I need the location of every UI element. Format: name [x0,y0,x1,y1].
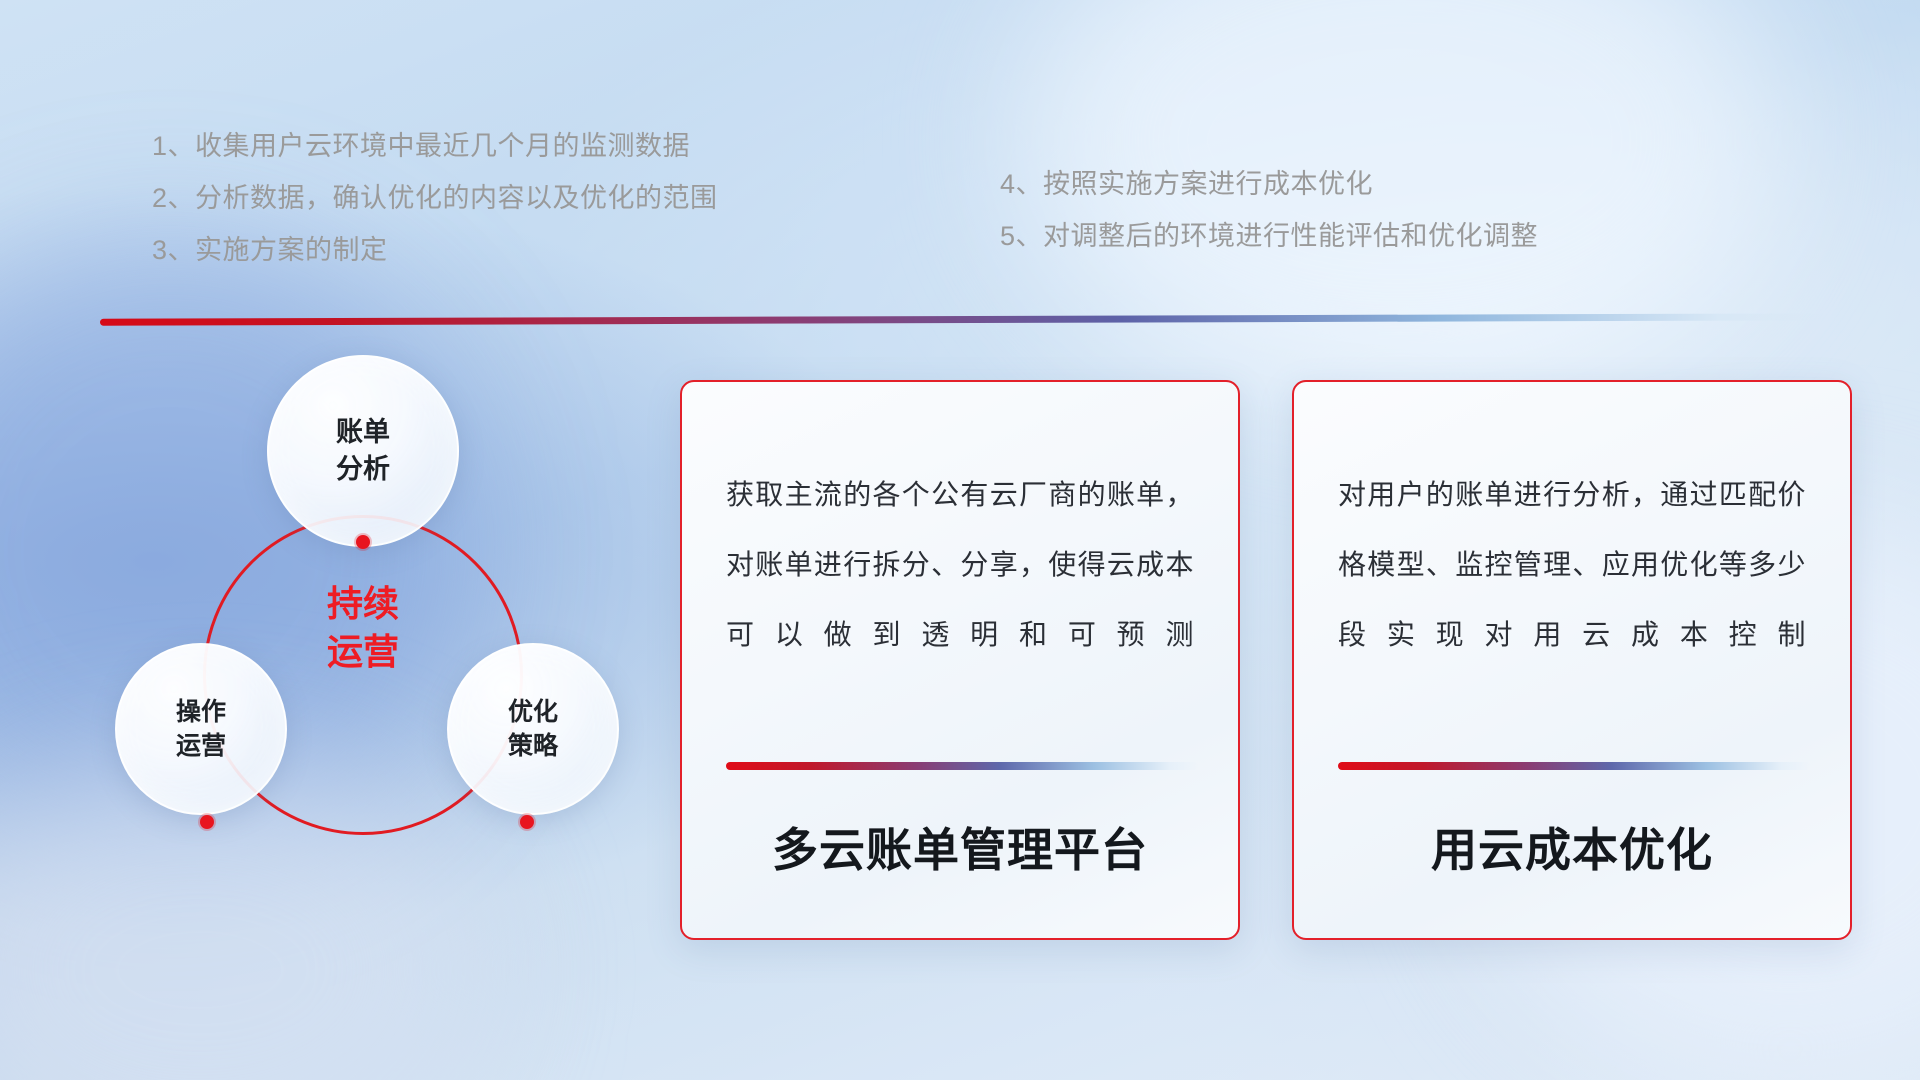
card-cloud-cost-optimization[interactable]: 对用户的账单进行分析，通过匹配价格模型、监控管理、应用优化等多少段实现对用云成本… [1292,380,1852,940]
card-multi-cloud-billing-platform[interactable]: 获取主流的各个公有云厂商的账单，对账单进行拆分、分享，使得云成本可以做到透明和可… [680,380,1240,940]
venn-node-bottom-right-dot [520,815,534,829]
venn-bubble-operations[interactable]: 操作运营 [115,643,287,815]
step-item-2: 2、分析数据，确认优化的内容以及优化的范围 [152,172,718,224]
venn-bubble-label-0: 账单分析 [336,414,390,488]
steps-right-column: 4、按照实施方案进行成本优化 5、对调整后的环境进行性能评估和优化调整 [1000,158,1538,262]
card-title-1: 用云成本优化 [1294,814,1850,880]
venn-node-bottom-left-dot [200,815,214,829]
venn-bubble-label-1: 操作运营 [176,695,226,763]
venn-bubble-label-2: 优化策略 [508,695,558,763]
card-separator-1 [1338,762,1810,770]
card-body-0: 获取主流的各个公有云厂商的账单，对账单进行拆分、分享，使得云成本可以做到透明和可… [726,460,1194,670]
venn-bubble-optimization-strategy[interactable]: 优化策略 [447,643,619,815]
venn-center-label-line2: 运营 [327,631,399,672]
venn-center-label-line1: 持续 [327,583,399,624]
step-item-3: 3、实施方案的制定 [152,224,718,276]
step-item-4: 4、按照实施方案进行成本优化 [1000,158,1538,210]
card-separator-0 [726,762,1198,770]
slide-canvas: 1、收集用户云环境中最近几个月的监测数据 2、分析数据，确认优化的内容以及优化的… [0,0,1920,1080]
section-divider-rule [100,313,1860,326]
venn-node-top-dot [356,535,370,549]
step-item-5: 5、对调整后的环境进行性能评估和优化调整 [1000,210,1538,262]
card-body-1: 对用户的账单进行分析，通过匹配价格模型、监控管理、应用优化等多少段实现对用云成本… [1338,460,1806,670]
step-item-1: 1、收集用户云环境中最近几个月的监测数据 [152,120,718,172]
venn-bubble-billing-analysis[interactable]: 账单分析 [267,355,459,547]
steps-left-column: 1、收集用户云环境中最近几个月的监测数据 2、分析数据，确认优化的内容以及优化的… [152,120,718,276]
card-title-0: 多云账单管理平台 [682,814,1238,880]
venn-diagram: 持续 运营 账单分析 操作运营 优化策略 [95,355,635,935]
